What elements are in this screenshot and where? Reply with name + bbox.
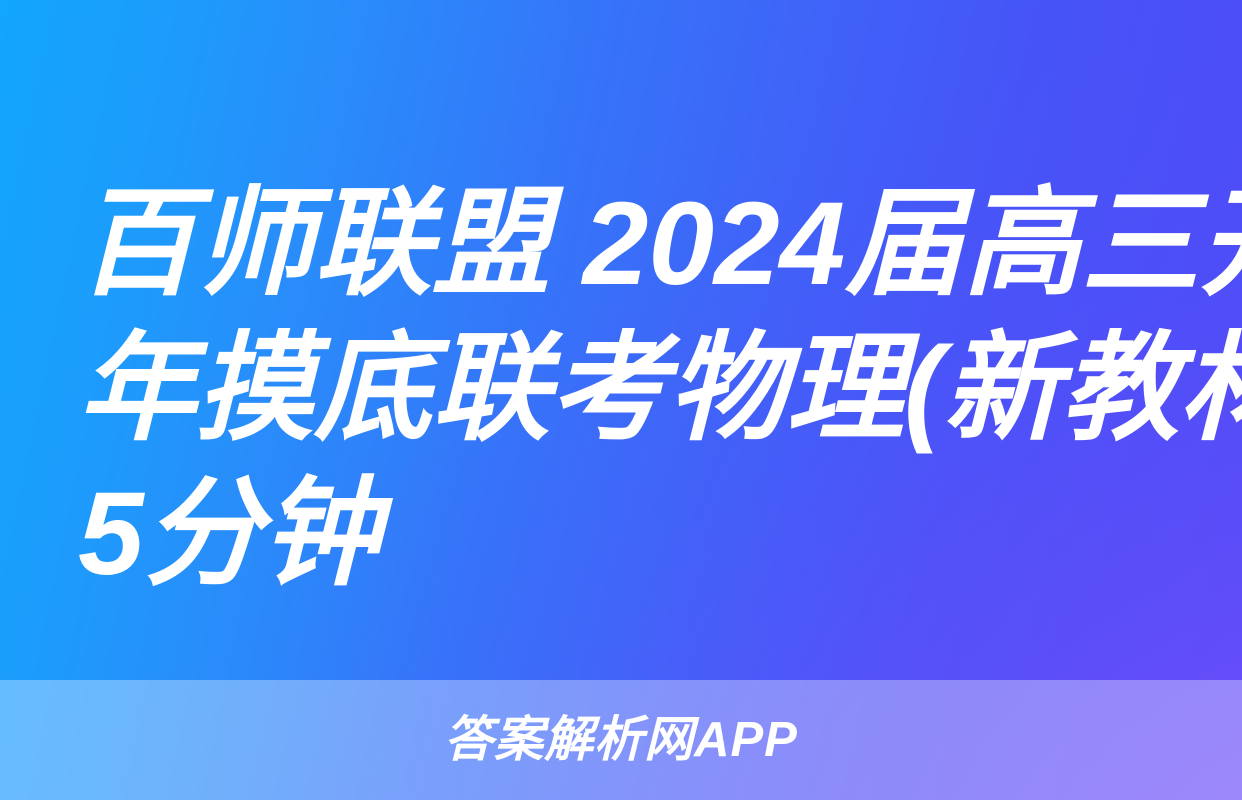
- watermark-app-label: 答案解析网APP: [444, 716, 798, 765]
- title-line-3: 5分钟: [78, 462, 1168, 607]
- exam-cover-card: 百师联盟 2024届高三开 年摸底联考物理(新教材7 5分钟 答案解析网APP: [0, 0, 1242, 800]
- page-title: 百师联盟 2024届高三开 年摸底联考物理(新教材7 5分钟: [78, 172, 1168, 607]
- watermark-band: 答案解析网APP: [0, 680, 1242, 800]
- title-line-2: 年摸底联考物理(新教材7: [78, 317, 1168, 462]
- title-line-1: 百师联盟 2024届高三开: [78, 172, 1168, 317]
